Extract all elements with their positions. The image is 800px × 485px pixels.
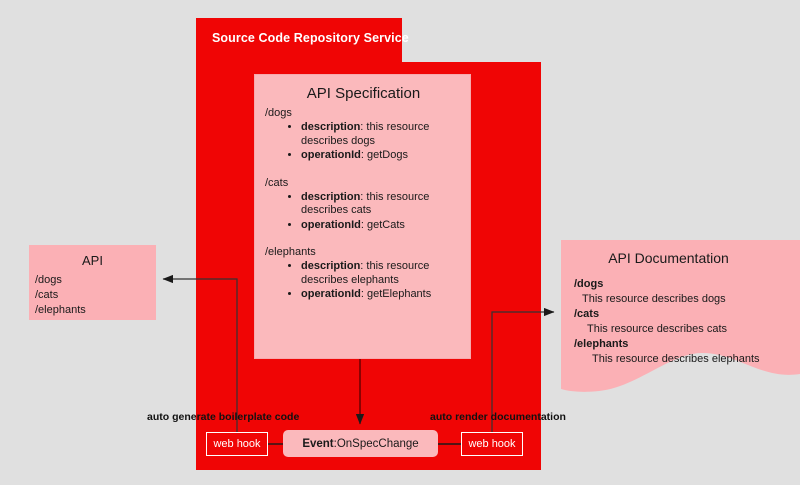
diagram-canvas: Source Code Repository Service API Speci… xyxy=(0,0,800,485)
web-hook-right[interactable]: web hook xyxy=(461,432,523,456)
spec-resource-path-elephants: /elephants xyxy=(263,246,468,258)
spec-attribute-row: description: this resource describes dog… xyxy=(301,121,468,148)
doc-entry-description: This resource describes elephants xyxy=(574,352,760,367)
api-specification-panel: API Specification /dogs description: thi… xyxy=(254,74,471,359)
spec-resource-path-dogs: /dogs xyxy=(263,107,468,119)
event-key: Event xyxy=(302,438,333,450)
caption-auto-generate-boilerplate: auto generate boilerplate code xyxy=(147,411,299,423)
doc-entry-resource: /cats xyxy=(574,307,760,322)
doc-entry-resource: /dogs xyxy=(574,277,760,292)
spec-attribute-key: operationId xyxy=(301,219,361,231)
spec-attribute-row: operationId: getElephants xyxy=(301,288,468,302)
event-box: Event: OnSpecChange xyxy=(283,430,438,457)
spec-attribute-value: getElephants xyxy=(367,288,431,300)
spec-resource-attributes-dogs: description: this resource describes dog… xyxy=(263,121,468,163)
spec-attribute-row: operationId: getCats xyxy=(301,219,468,233)
api-documentation-box: API Documentation /dogs This resource de… xyxy=(561,240,800,392)
api-box: API /dogs /cats /elephants xyxy=(29,245,156,320)
doc-entry-description: This resource describes cats xyxy=(574,322,760,337)
doc-entry-resource: /elephants xyxy=(574,337,760,352)
api-box-endpoint: /cats xyxy=(35,288,86,303)
web-hook-left[interactable]: web hook xyxy=(206,432,268,456)
spec-resource-attributes-elephants: description: this resource describes ele… xyxy=(263,260,468,302)
spec-attribute-row: description: this resource describes cat… xyxy=(301,191,468,218)
spec-attribute-row: operationId: getDogs xyxy=(301,149,468,163)
spec-attribute-key: description xyxy=(301,260,360,272)
spec-attribute-key: description xyxy=(301,191,360,203)
event-value: OnSpecChange xyxy=(337,438,419,450)
api-documentation-entries: /dogs This resource describes dogs /cats… xyxy=(574,277,760,367)
spec-attribute-key: description xyxy=(301,121,360,133)
api-specification-resource-list: /dogs description: this resource describ… xyxy=(263,107,468,316)
spec-resource-path-cats: /cats xyxy=(263,177,468,189)
spec-attribute-key: operationId xyxy=(301,149,361,161)
api-box-endpoint: /dogs xyxy=(35,273,86,288)
api-documentation-title: API Documentation xyxy=(561,250,776,266)
api-box-endpoint: /elephants xyxy=(35,303,86,318)
spec-resource-attributes-cats: description: this resource describes cat… xyxy=(263,191,468,233)
doc-entry-description: This resource describes dogs xyxy=(574,292,760,307)
caption-auto-render-documentation: auto render documentation xyxy=(430,411,566,423)
api-box-endpoint-list: /dogs /cats /elephants xyxy=(35,273,86,318)
spec-attribute-key: operationId xyxy=(301,288,361,300)
spec-attribute-row: description: this resource describes ele… xyxy=(301,260,468,287)
spec-attribute-value: getDogs xyxy=(367,149,408,161)
api-box-title: API xyxy=(29,253,156,268)
spec-attribute-value: getCats xyxy=(367,219,405,231)
repository-title: Source Code Repository Service xyxy=(212,31,409,45)
api-specification-title: API Specification xyxy=(255,85,472,102)
